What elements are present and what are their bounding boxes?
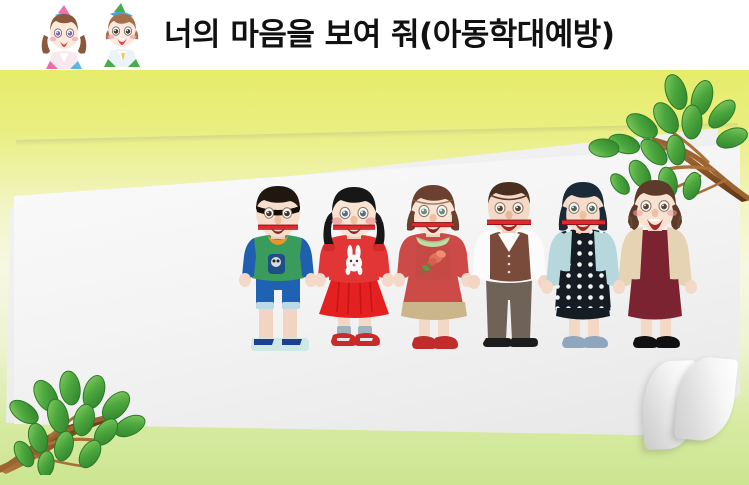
page-title: 너의 마음을 보여 줘(아동학대예방): [164, 20, 615, 51]
man-brown-vest-art: [468, 182, 550, 366]
girl-pigtails-red-art: [313, 186, 395, 362]
slide-canvas: 너의 마음을 보여 줘(아동학대예방): [0, 0, 749, 485]
figure-woman-beige-jacket[interactable]: [613, 180, 697, 366]
woman-beige-jacket-art: [613, 180, 697, 366]
figure-girl-red-apron-dress[interactable]: [392, 184, 474, 364]
girl-mascot-icon: [36, 5, 92, 69]
figure-man-brown-vest[interactable]: [468, 182, 550, 366]
figure-boy-green-shirt[interactable]: [238, 186, 318, 362]
figure-girl-pigtails-red[interactable]: [313, 186, 395, 362]
mascot-group: [36, 3, 156, 67]
boy-mascot-icon: [94, 3, 150, 67]
boy-green-shirt-art: [238, 186, 318, 362]
girl-red-apron-dress-art: [392, 184, 474, 364]
title-bar: 너의 마음을 보여 줘(아동학대예방): [0, 0, 749, 70]
branch-bottom-left-icon: [0, 350, 179, 475]
